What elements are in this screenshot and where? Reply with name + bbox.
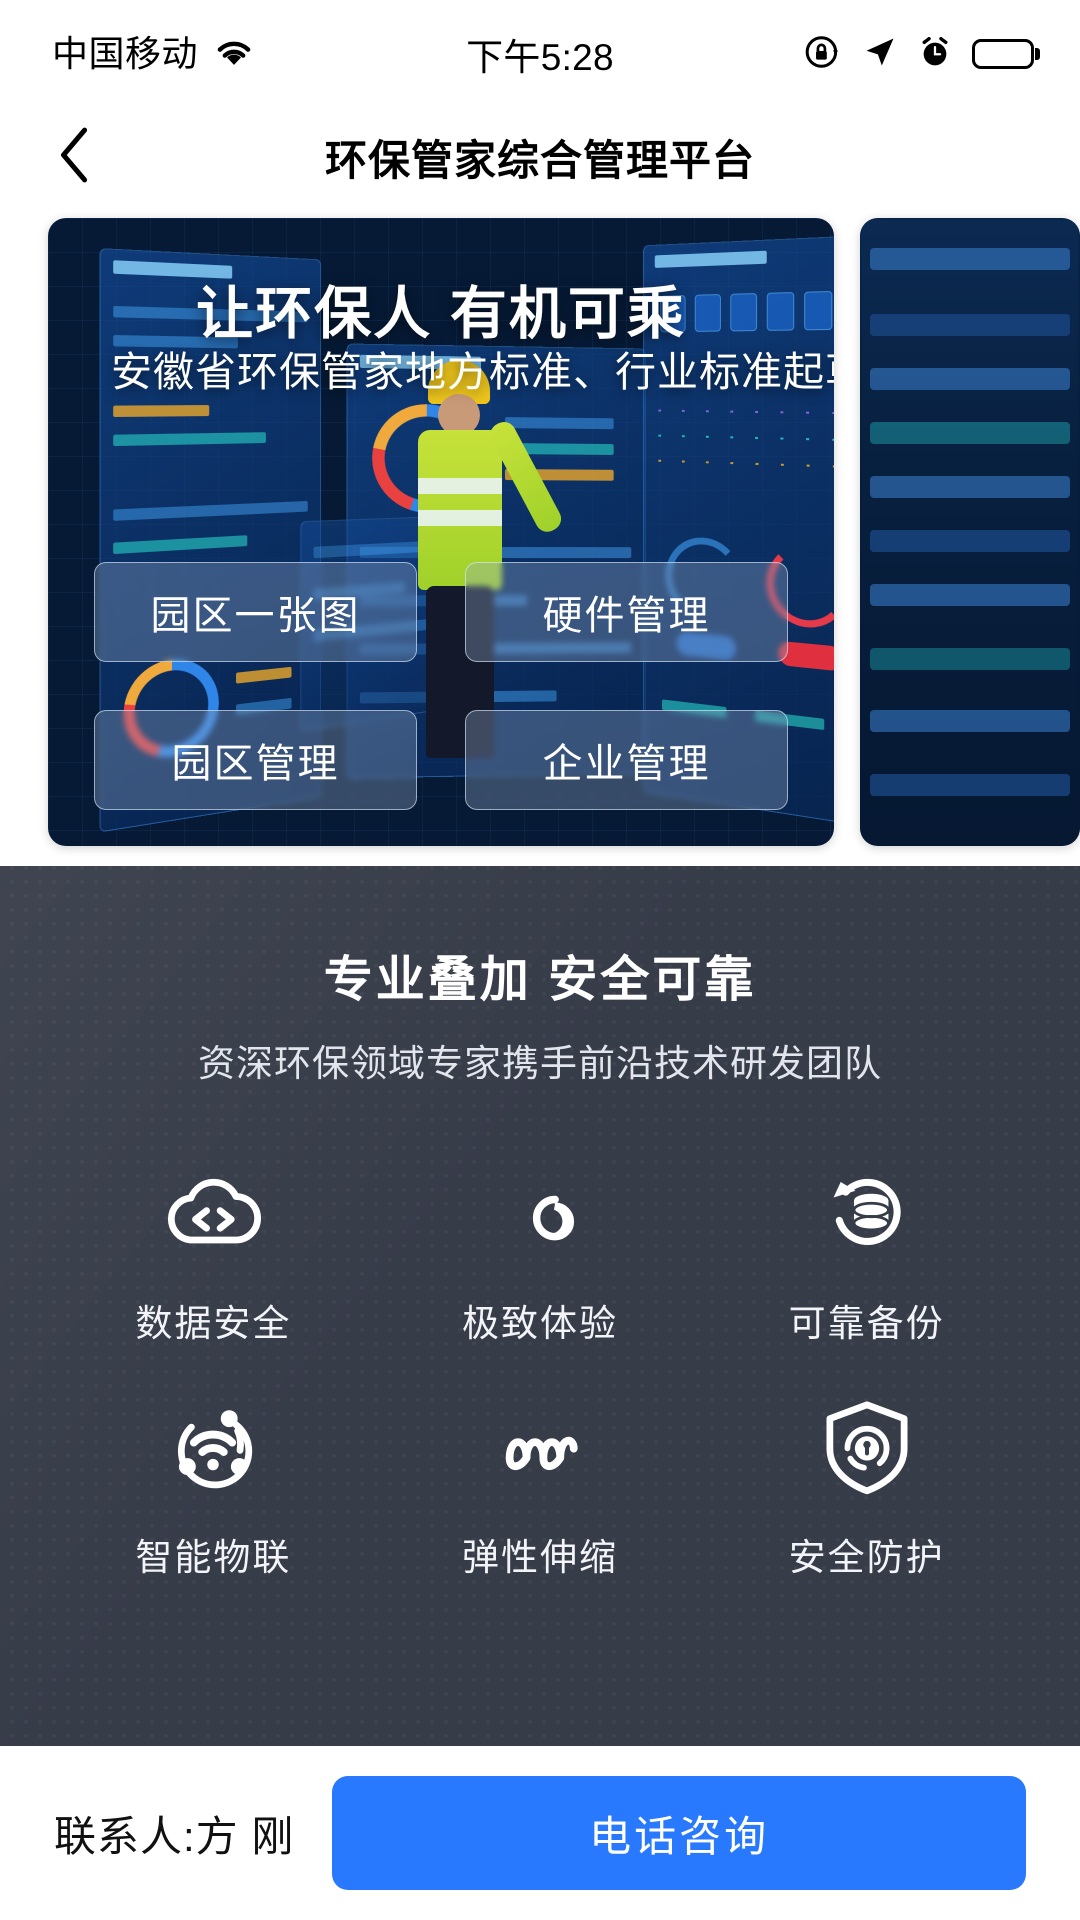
carrier-label: 中国移动	[52, 36, 198, 72]
phone-consult-button[interactable]: 电话咨询	[332, 1776, 1026, 1890]
feature-item-reliable-backup[interactable]: 可靠备份	[703, 1159, 1030, 1347]
wifi-icon	[212, 35, 256, 74]
banner-button-grid: 园区一张图 硬件管理 园区管理 企业管理	[94, 562, 788, 810]
status-bar-left: 中国移动	[52, 35, 256, 74]
banner-button-enterprise-management[interactable]: 企业管理	[465, 710, 788, 810]
rotation-lock-icon	[804, 33, 842, 76]
carousel-track[interactable]: 让环保人 有机可乘 安徽省环保管家地方标准、行业标准起草单位 园区一张图 硬件管…	[0, 218, 1080, 846]
feature-item-elastic-scaling[interactable]: 弹性伸缩	[377, 1393, 704, 1581]
banner-carousel[interactable]: 让环保人 有机可乘 安徽省环保管家地方标准、行业标准起草单位 园区一张图 硬件管…	[0, 206, 1080, 866]
feature-label: 安全防护	[789, 1527, 945, 1581]
shield-lock-icon	[813, 1393, 921, 1501]
spring-coil-icon	[486, 1393, 594, 1501]
features-title: 专业叠加 安全可靠	[0, 940, 1080, 1011]
banner-subheadline: 安徽省环保管家地方标准、行业标准起草单位	[48, 338, 834, 398]
infinity-loop-icon	[486, 1159, 594, 1267]
page-title: 环保管家综合管理平台	[0, 127, 1080, 188]
status-bar: 中国移动 下午5:28	[0, 0, 1080, 108]
feature-label: 极致体验	[462, 1293, 618, 1347]
features-grid: 数据安全 极致体验	[0, 1159, 1080, 1581]
feature-label: 数据安全	[135, 1293, 291, 1347]
banner-button-park-management[interactable]: 园区管理	[94, 710, 417, 810]
alarm-clock-icon	[918, 35, 952, 74]
feature-item-smart-iot[interactable]: 智能物联	[50, 1393, 377, 1581]
iot-wifi-nodes-icon	[159, 1393, 267, 1501]
features-subtitle: 资深环保领域专家携手前沿技术研发团队	[0, 1033, 1080, 1087]
feature-item-ultimate-experience[interactable]: 极致体验	[377, 1159, 704, 1347]
feature-label: 智能物联	[135, 1527, 291, 1581]
feature-label: 可靠备份	[789, 1293, 945, 1347]
app-screen: 中国移动 下午5:28	[0, 0, 1080, 1920]
location-arrow-icon	[862, 34, 898, 75]
back-button[interactable]	[40, 122, 110, 192]
chevron-left-icon	[52, 124, 98, 191]
contact-person-label: 联系人:方 刚	[54, 1803, 294, 1864]
feature-item-security-protection[interactable]: 安全防护	[703, 1393, 1030, 1581]
banner-button-park-map[interactable]: 园区一张图	[94, 562, 417, 662]
banner-button-hardware-management[interactable]: 硬件管理	[465, 562, 788, 662]
nav-bar: 环保管家综合管理平台	[0, 108, 1080, 206]
feature-label: 弹性伸缩	[462, 1527, 618, 1581]
carousel-slide-next[interactable]	[860, 218, 1080, 846]
battery-icon	[972, 39, 1034, 69]
features-section: 专业叠加 安全可靠 资深环保领域专家携手前沿技术研发团队 数据安全	[0, 866, 1080, 1746]
status-bar-right	[804, 33, 1034, 76]
cloud-code-icon	[159, 1159, 267, 1267]
database-refresh-icon	[813, 1159, 921, 1267]
feature-item-data-security[interactable]: 数据安全	[50, 1159, 377, 1347]
bottom-action-bar: 联系人:方 刚 电话咨询	[0, 1746, 1080, 1920]
carousel-slide-active[interactable]: 让环保人 有机可乘 安徽省环保管家地方标准、行业标准起草单位 园区一张图 硬件管…	[48, 218, 834, 846]
